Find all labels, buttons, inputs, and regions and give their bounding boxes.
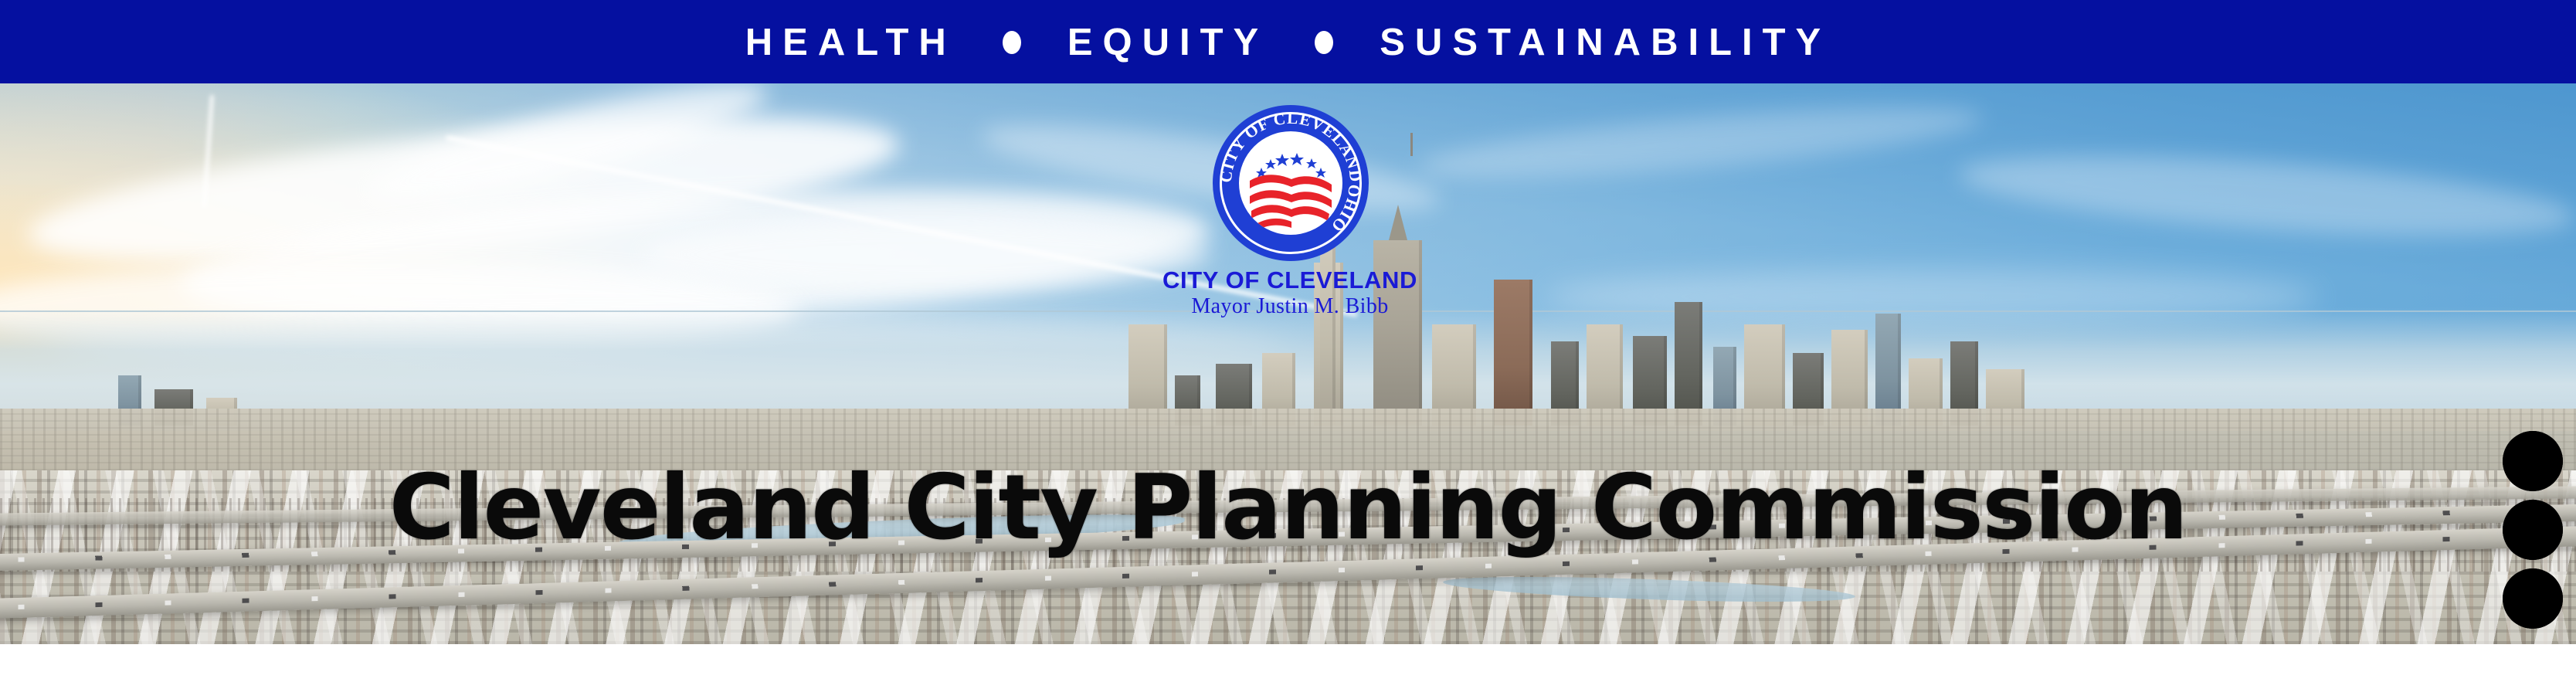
mayor-name: Mayor Justin M. Bibb bbox=[1058, 293, 1522, 321]
youtube-glyph bbox=[2503, 431, 2563, 491]
instagram-glyph bbox=[2503, 500, 2563, 560]
banner-word-group: HEALTH EQUITY SUSTAINABILITY bbox=[745, 24, 1831, 62]
banner-word-health: HEALTH bbox=[745, 24, 956, 62]
banner-separator-dot-1 bbox=[1003, 31, 1021, 54]
facebook-glyph bbox=[2503, 568, 2563, 629]
banner-separator-dot-2 bbox=[1315, 31, 1333, 54]
key-tower-antenna bbox=[1410, 133, 1413, 156]
seal-emblem bbox=[1239, 131, 1342, 235]
bottom-white-strip bbox=[0, 644, 2576, 682]
page-root: HEALTH EQUITY SUSTAINABILITY bbox=[0, 0, 2576, 682]
organization-name: CITY OF CLEVELAND bbox=[1058, 267, 1522, 293]
banner-word-sustainability: SUSTAINABILITY bbox=[1380, 24, 1831, 62]
city-of-cleveland-seal-icon: CITY OF CLEVELAND OHIO bbox=[1213, 105, 1369, 261]
skyline-building bbox=[1675, 302, 1703, 426]
key-tower-pyramid bbox=[1389, 205, 1407, 240]
top-banner: HEALTH EQUITY SUSTAINABILITY bbox=[0, 0, 2576, 83]
instagram-icon[interactable] bbox=[2503, 500, 2563, 560]
seal-flag-and-stars bbox=[1239, 131, 1342, 235]
page-title: Cleveland City Planning Commission bbox=[0, 463, 2576, 553]
facebook-icon[interactable] bbox=[2503, 568, 2563, 629]
social-links bbox=[2502, 431, 2564, 629]
banner-word-equity: EQUITY bbox=[1067, 24, 1268, 62]
seal-caption: CITY OF CLEVELAND Mayor Justin M. Bibb bbox=[1058, 267, 1522, 321]
youtube-icon[interactable] bbox=[2503, 431, 2563, 491]
